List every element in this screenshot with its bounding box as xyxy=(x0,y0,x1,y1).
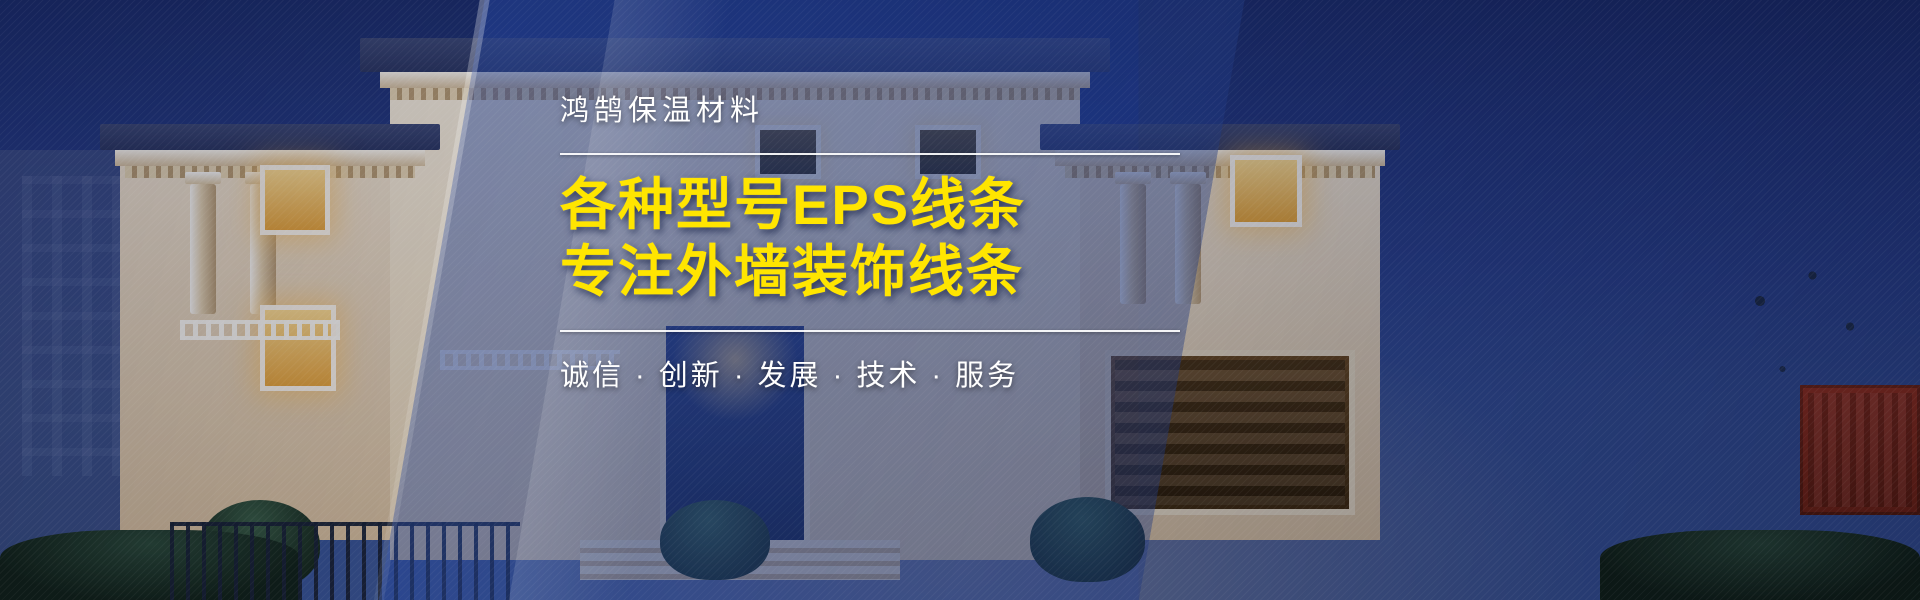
divider-bottom xyxy=(560,330,1180,332)
banner-copy: 鸿鹄保温材料 各种型号EPS线条 专注外墙装饰线条 诚信 · 创新 · 发展 ·… xyxy=(560,92,1180,394)
headline-line-1: 各种型号EPS线条 xyxy=(560,171,1180,238)
divider-top xyxy=(560,153,1180,155)
tagline: 诚信 · 创新 · 发展 · 技术 · 服务 xyxy=(560,352,1180,394)
hero-banner: 鸿鹄保温材料 各种型号EPS线条 专注外墙装饰线条 诚信 · 创新 · 发展 ·… xyxy=(0,0,1920,600)
brand-eyebrow: 鸿鹄保温材料 xyxy=(560,92,1180,131)
headline-line-2: 专注外墙装饰线条 xyxy=(560,238,1180,305)
